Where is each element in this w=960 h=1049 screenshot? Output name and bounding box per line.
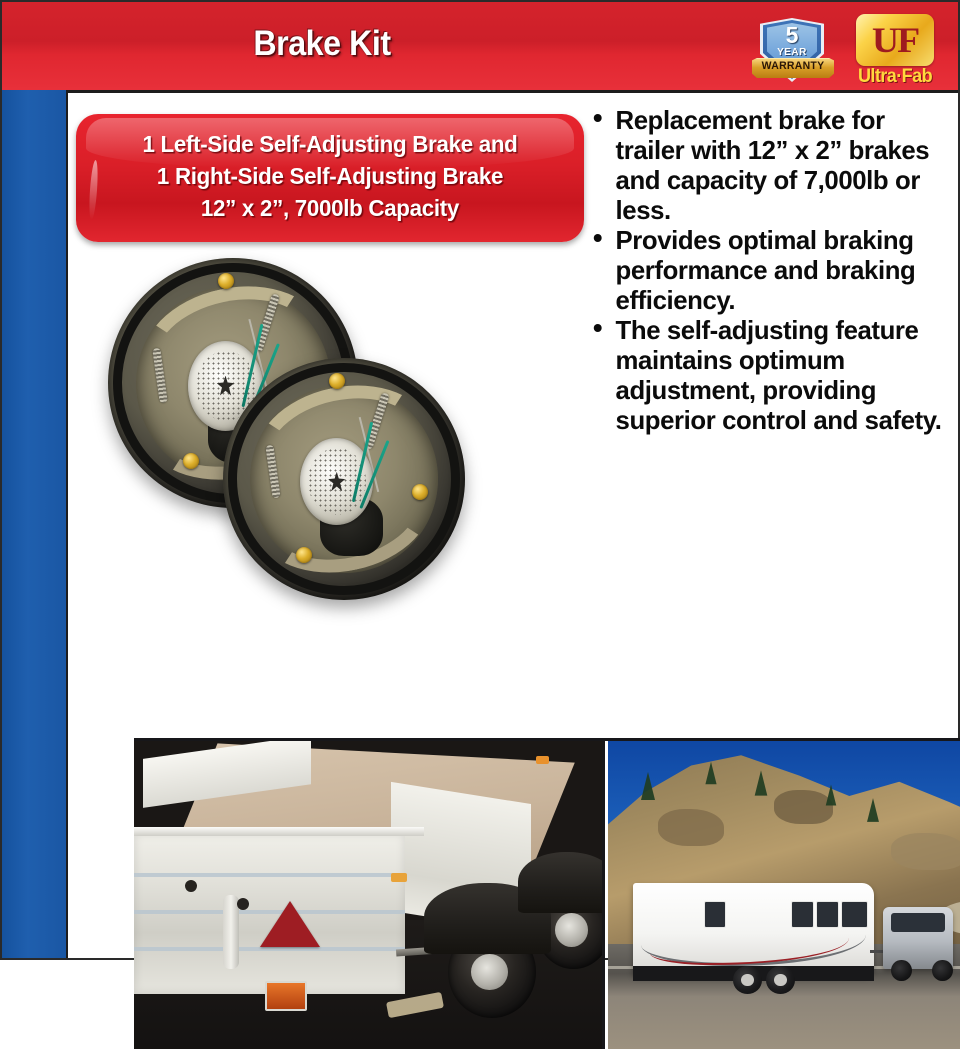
trailer-stripe xyxy=(134,947,405,951)
red-triangle-reflector xyxy=(260,901,320,947)
logo-wordmark: Ultra·Fab xyxy=(845,66,946,88)
trailer-knob xyxy=(185,880,197,892)
pine-tree xyxy=(867,799,879,823)
trailer-fender xyxy=(518,852,605,914)
feature-text: Replacement brake for trailer with 12” x… xyxy=(616,105,930,225)
pine-tree xyxy=(826,785,837,806)
pine-tree xyxy=(754,770,767,795)
bullet-icon xyxy=(594,114,602,122)
trailer-stripe xyxy=(134,873,405,877)
callout-line-3: 12” x 2”, 7000lb Capacity xyxy=(84,195,577,222)
brake-assembly-front xyxy=(223,358,465,600)
callout-line-1: 1 Left-Side Self-Adjusting Brake and xyxy=(84,131,577,158)
mounting-bolt-top xyxy=(218,273,234,289)
bullet-icon xyxy=(594,324,602,332)
list-item: Provides optimal braking performance and… xyxy=(590,225,946,315)
trailer-tail-lamp xyxy=(265,981,307,1011)
warranty-year-label: YEAR xyxy=(767,47,817,58)
trailer-wheel-rim xyxy=(741,974,753,986)
list-item: Replacement brake for trailer with 12” x… xyxy=(590,105,946,225)
suv-window xyxy=(891,913,945,931)
feature-text: Provides optimal braking performance and… xyxy=(616,225,916,315)
warranty-years: 5 xyxy=(767,24,817,47)
pine-tree xyxy=(641,772,655,800)
header-banner: Brake Kit 5 YEAR WARRANTY UF Ultra·Fab xyxy=(2,2,958,93)
trailer-window xyxy=(816,901,839,928)
trailer-wheel-rim xyxy=(774,974,786,986)
trailer-knob xyxy=(237,898,249,910)
amber-marker-light xyxy=(536,756,549,764)
product-photo-brake-assemblies xyxy=(108,258,468,618)
product-info-graphic: Brake Kit 5 YEAR WARRANTY UF Ultra·Fab 1… xyxy=(0,0,960,960)
warranty-ribbon-label: WARRANTY xyxy=(754,60,832,72)
mounting-bolt-right xyxy=(412,484,428,500)
mounting-bolt-bottom xyxy=(296,547,312,563)
spec-callout-badge: 1 Left-Side Self-Adjusting Brake and 1 R… xyxy=(76,114,584,242)
trailer-window xyxy=(791,901,814,928)
rock-outcrop xyxy=(891,833,960,870)
callout-line-2: 1 Right-Side Self-Adjusting Brake xyxy=(84,163,577,190)
main-content-panel: 1 Left-Side Self-Adjusting Brake and 1 R… xyxy=(68,93,958,958)
logo-monogram: UF xyxy=(854,17,936,63)
pine-tree xyxy=(705,762,716,784)
rock-outcrop xyxy=(774,790,832,824)
trailer-window xyxy=(841,901,868,928)
trailer-top-rail xyxy=(134,827,424,836)
mounting-bolt-top xyxy=(329,373,345,389)
page-title: Brake Kit xyxy=(28,24,617,64)
suv-tire xyxy=(891,960,912,982)
feature-text: The self-adjusting feature maintains opt… xyxy=(616,315,942,435)
brand-logo: UF Ultra·Fab xyxy=(842,14,948,90)
bottom-photo-row xyxy=(134,738,960,1049)
feature-list: Replacement brake for trailer with 12” x… xyxy=(588,105,948,435)
photo-utility-trailer xyxy=(134,741,605,1049)
warranty-badge: 5 YEAR WARRANTY xyxy=(752,16,834,90)
trailer-window xyxy=(704,901,727,928)
left-accent-rail xyxy=(2,90,68,958)
list-item: The self-adjusting feature maintains opt… xyxy=(590,315,946,435)
amber-marker-light xyxy=(391,873,407,882)
mounting-bolt-bottom xyxy=(183,453,199,469)
photo-suv-towing-travel-trailer xyxy=(608,741,960,1049)
bullet-icon xyxy=(594,234,602,242)
rock-outcrop xyxy=(658,809,725,846)
